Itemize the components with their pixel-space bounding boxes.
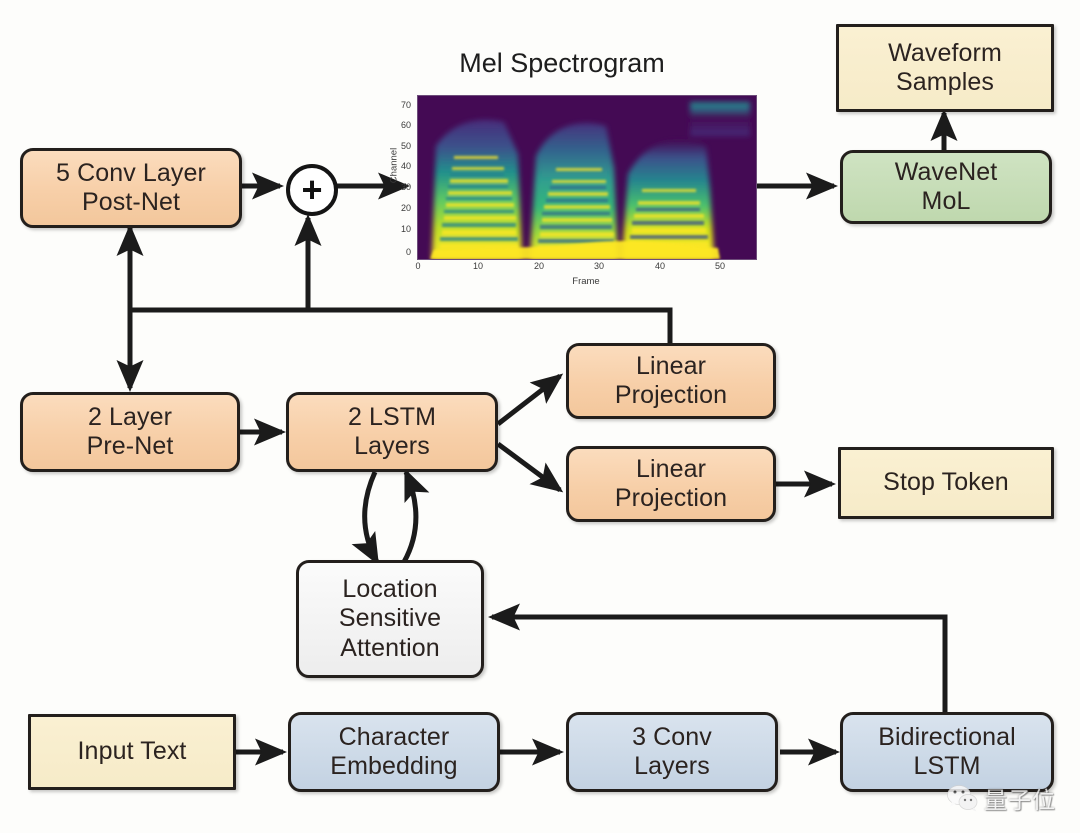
xtick-10: 10: [466, 261, 490, 271]
node-linear-projection-2-label: Linear Projection: [615, 455, 727, 514]
xtick-30: 30: [587, 261, 611, 271]
node-attention-label: Location Sensitive Attention: [339, 575, 441, 664]
xtick-20: 20: [527, 261, 551, 271]
ytick-60: 60: [387, 120, 411, 130]
ytick-0: 0: [387, 247, 411, 257]
ytick-20: 20: [387, 203, 411, 213]
plus-icon: +: [301, 175, 322, 205]
node-stop-token-label: Stop Token: [883, 468, 1009, 498]
node-waveform-samples-label: Waveform Samples: [888, 39, 1002, 98]
diagram-canvas: + 5 Conv Layer Post-Net 2 Layer Pre-Net …: [0, 0, 1080, 833]
node-lstm-layers[interactable]: 2 LSTM Layers: [286, 392, 498, 472]
node-linear-projection-1-label: Linear Projection: [615, 352, 727, 411]
node-conv-layers[interactable]: 3 Conv Layers: [566, 712, 778, 792]
ytick-70: 70: [387, 100, 411, 110]
ytick-50: 50: [387, 141, 411, 151]
edge-lstm-to-linearproj1: [498, 376, 560, 424]
xtick-50: 50: [708, 261, 732, 271]
chart-title: Mel Spectrogram: [382, 48, 742, 79]
chart-xlabel: Frame: [417, 276, 755, 287]
node-input-text[interactable]: Input Text: [28, 714, 236, 790]
edge-attention-to-lstm: [404, 472, 416, 562]
node-attention[interactable]: Location Sensitive Attention: [296, 560, 484, 678]
node-input-text-label: Input Text: [78, 737, 187, 767]
node-waveform-samples[interactable]: Waveform Samples: [836, 24, 1054, 112]
node-pre-net-label: 2 Layer Pre-Net: [87, 403, 174, 462]
xtick-0: 0: [406, 261, 430, 271]
edge-linearproj-bus: [130, 310, 670, 344]
node-pre-net[interactable]: 2 Layer Pre-Net: [20, 392, 240, 472]
node-post-net-label: 5 Conv Layer Post-Net: [56, 159, 206, 218]
summation-node: +: [286, 164, 338, 216]
node-conv-layers-label: 3 Conv Layers: [632, 723, 712, 782]
node-character-embedding[interactable]: Character Embedding: [288, 712, 500, 792]
edge-lstm-to-attention: [365, 472, 377, 562]
node-linear-projection-1[interactable]: Linear Projection: [566, 343, 776, 419]
node-post-net[interactable]: 5 Conv Layer Post-Net: [20, 148, 242, 228]
edge-encoder-to-attention: [492, 617, 945, 712]
node-bidirectional-lstm[interactable]: Bidirectional LSTM: [840, 712, 1054, 792]
node-wavenet-mol[interactable]: WaveNet MoL: [840, 150, 1052, 224]
ytick-30: 30: [387, 182, 411, 192]
edge-lstm-to-linearproj2: [498, 444, 560, 490]
ytick-10: 10: [387, 224, 411, 234]
node-character-embedding-label: Character Embedding: [330, 723, 457, 782]
spectrogram-image: [418, 96, 756, 259]
node-stop-token[interactable]: Stop Token: [838, 447, 1054, 519]
node-linear-projection-2[interactable]: Linear Projection: [566, 446, 776, 522]
node-bidirectional-lstm-label: Bidirectional LSTM: [878, 723, 1015, 782]
mel-spectrogram-panel: Mel Spectrogram Channel: [382, 48, 762, 298]
xtick-40: 40: [648, 261, 672, 271]
node-lstm-layers-label: 2 LSTM Layers: [348, 403, 436, 462]
node-wavenet-mol-label: WaveNet MoL: [895, 158, 998, 217]
chart-plot-area: [417, 95, 757, 260]
ytick-40: 40: [387, 161, 411, 171]
